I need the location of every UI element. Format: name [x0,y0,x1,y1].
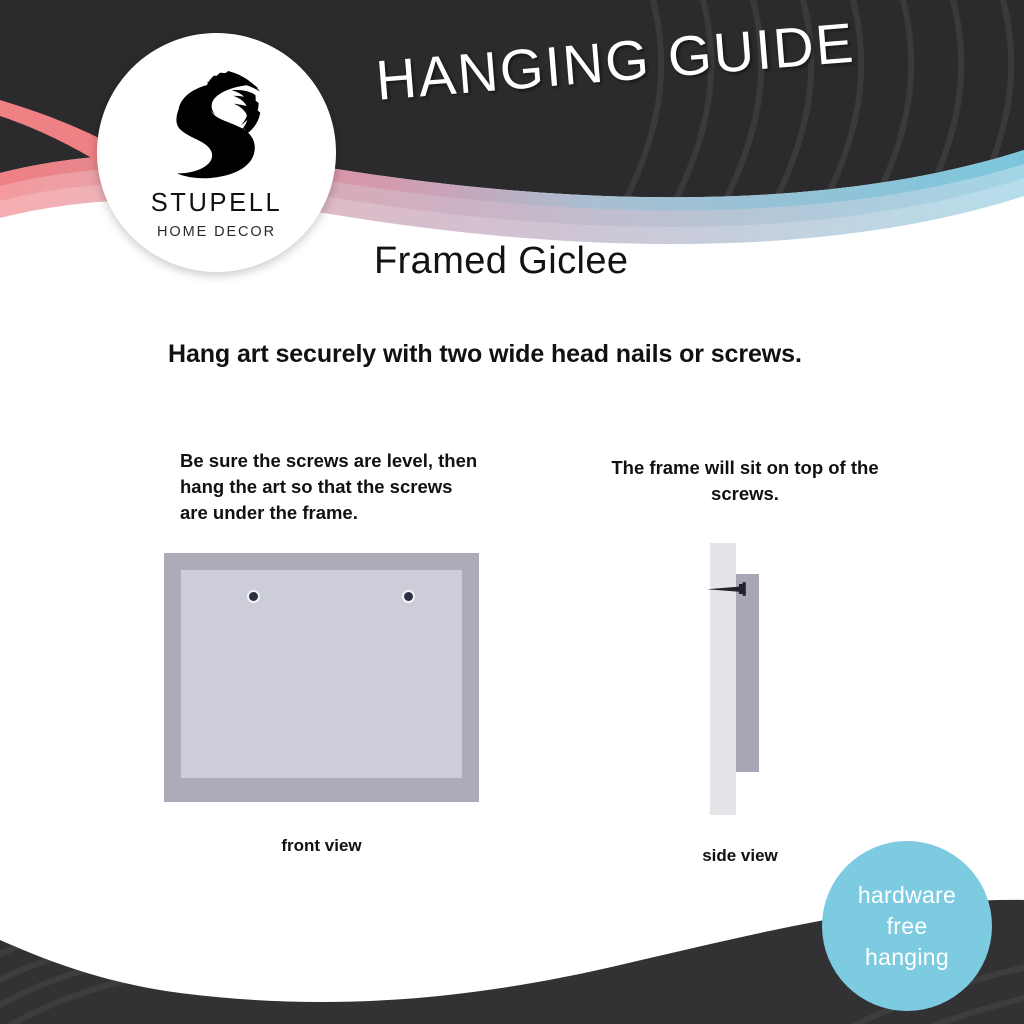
screw-dot-left [249,592,258,601]
side-view-caption: The frame will sit on top of the screws. [600,455,890,507]
badge-line-2: free [887,911,928,942]
product-name: Framed Giclee [374,240,628,283]
screw-dot-right [404,592,413,601]
side-view-diagram [700,543,780,815]
logo-tagline: HOME DECOR [157,225,276,240]
front-view-diagram [164,553,479,802]
frame-side-profile [736,574,759,772]
hardware-free-hanging-badge: hardware free hanging [822,841,992,1011]
badge-line-3: hanging [865,942,949,973]
screw-icon [705,581,755,597]
brand-logo-badge: STUPELL HOME DECOR [97,33,336,272]
front-view-art-panel [181,570,462,778]
side-view-label: side view [660,846,820,866]
page-title: HANGING GUIDE [373,10,857,113]
front-view-caption: Be sure the screws are level, then hang … [180,448,480,526]
front-view-label: front view [164,836,479,856]
main-instruction: Hang art securely with two wide head nai… [168,340,802,369]
stupell-swoosh-icon [169,71,265,183]
hanging-guide-infographic: STUPELL HOME DECOR HANGING GUIDE Framed … [0,0,1024,1024]
badge-line-1: hardware [858,880,956,911]
logo-wordmark: STUPELL [151,191,283,217]
